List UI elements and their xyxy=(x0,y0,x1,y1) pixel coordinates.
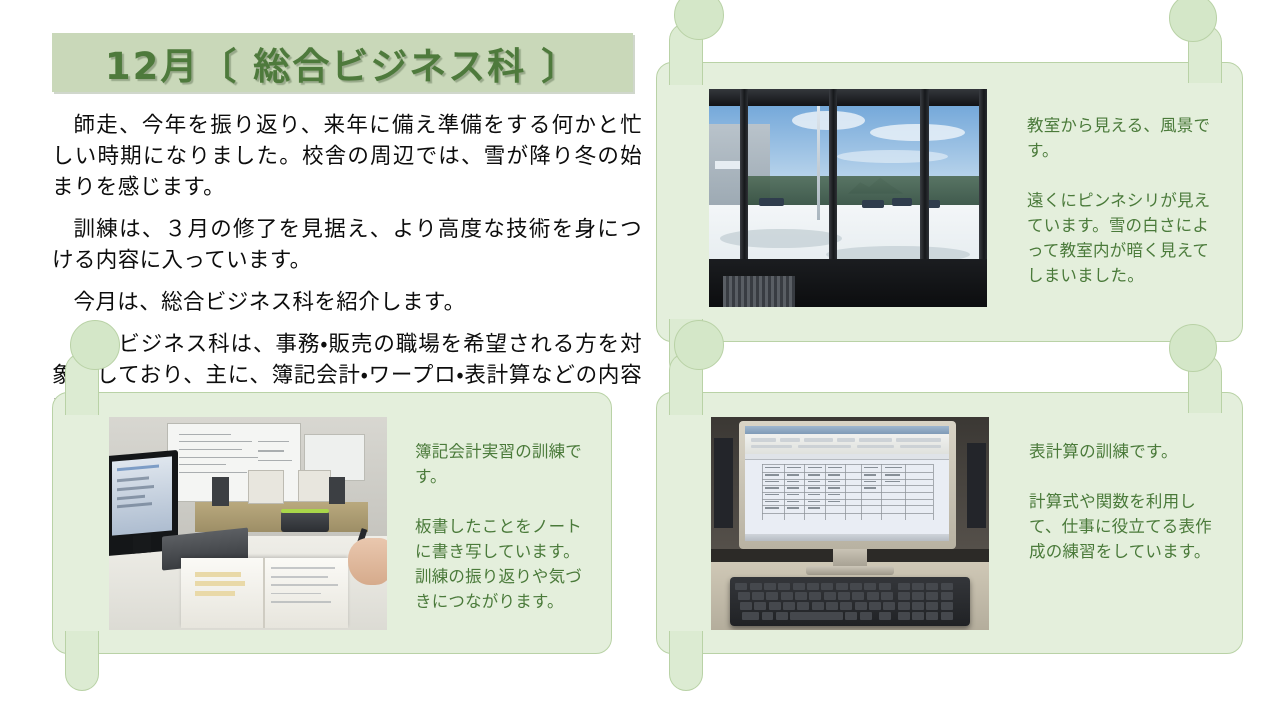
caption-window-view: 教室から見える、風景です。 遠くにピンネシリが見えています。雪の白さによって教室… xyxy=(987,89,1242,288)
page-title: 12月〔 総合ビジネス科 〕 xyxy=(52,33,633,92)
photo-window-view xyxy=(709,89,987,307)
body-paragraph: 訓練は、３月の修了を見据え、より高度な技術を身につける内容に入っています。 xyxy=(52,214,642,276)
scroll-curl-circle-icon xyxy=(674,0,724,40)
panel-spreadsheet: 表計算の訓練です。 計算式や関数を利用して、仕事に役立てる表作成の練習をしていま… xyxy=(656,392,1243,654)
caption-line: 表計算の訓練です。 xyxy=(1029,439,1214,464)
scroll-curl-circle-icon xyxy=(70,320,120,370)
panel-bookkeeping: 簿記会計実習の訓練です。 板書したことをノートに書き写しています。訓練の振り返り… xyxy=(52,392,612,654)
body-text: 師走、今年を振り返り、来年に備え準備をする何かと忙しい時期になりました。校舎の周… xyxy=(52,110,642,433)
body-paragraph: 今月は、総合ビジネス科を紹介します。 xyxy=(52,287,642,318)
body-paragraph: 師走、今年を振り返り、来年に備え準備をする何かと忙しい時期になりました。校舎の周… xyxy=(52,110,642,203)
caption-line: 計算式や関数を利用して、仕事に役立てる表作成の練習をしています。 xyxy=(1029,489,1214,564)
title-banner: 12月〔 総合ビジネス科 〕 xyxy=(52,33,633,92)
caption-line: 簿記会計実習の訓練です。 xyxy=(415,439,591,489)
panel-window-view: 教室から見える、風景です。 遠くにピンネシリが見えています。雪の白さによって教室… xyxy=(656,62,1243,342)
scroll-curl-circle-icon xyxy=(1169,0,1217,42)
caption-bookkeeping: 簿記会計実習の訓練です。 板書したことをノートに書き写しています。訓練の振り返り… xyxy=(387,417,611,614)
caption-line: 教室から見える、風景です。 xyxy=(1027,113,1214,163)
newsletter-page: 12月〔 総合ビジネス科 〕 師走、今年を振り返り、来年に備え準備をする何かと忙… xyxy=(0,0,1280,720)
photo-bookkeeping-class xyxy=(109,417,387,630)
caption-spreadsheet: 表計算の訓練です。 計算式や関数を利用して、仕事に役立てる表作成の練習をしていま… xyxy=(989,417,1242,564)
caption-line: 遠くにピンネシリが見えています。雪の白さによって教室内が暗く見えてしまいました。 xyxy=(1027,188,1214,288)
caption-line: 板書したことをノートに書き写しています。訓練の振り返りや気づきにつながります。 xyxy=(415,514,591,614)
photo-spreadsheet-pc xyxy=(711,417,989,630)
